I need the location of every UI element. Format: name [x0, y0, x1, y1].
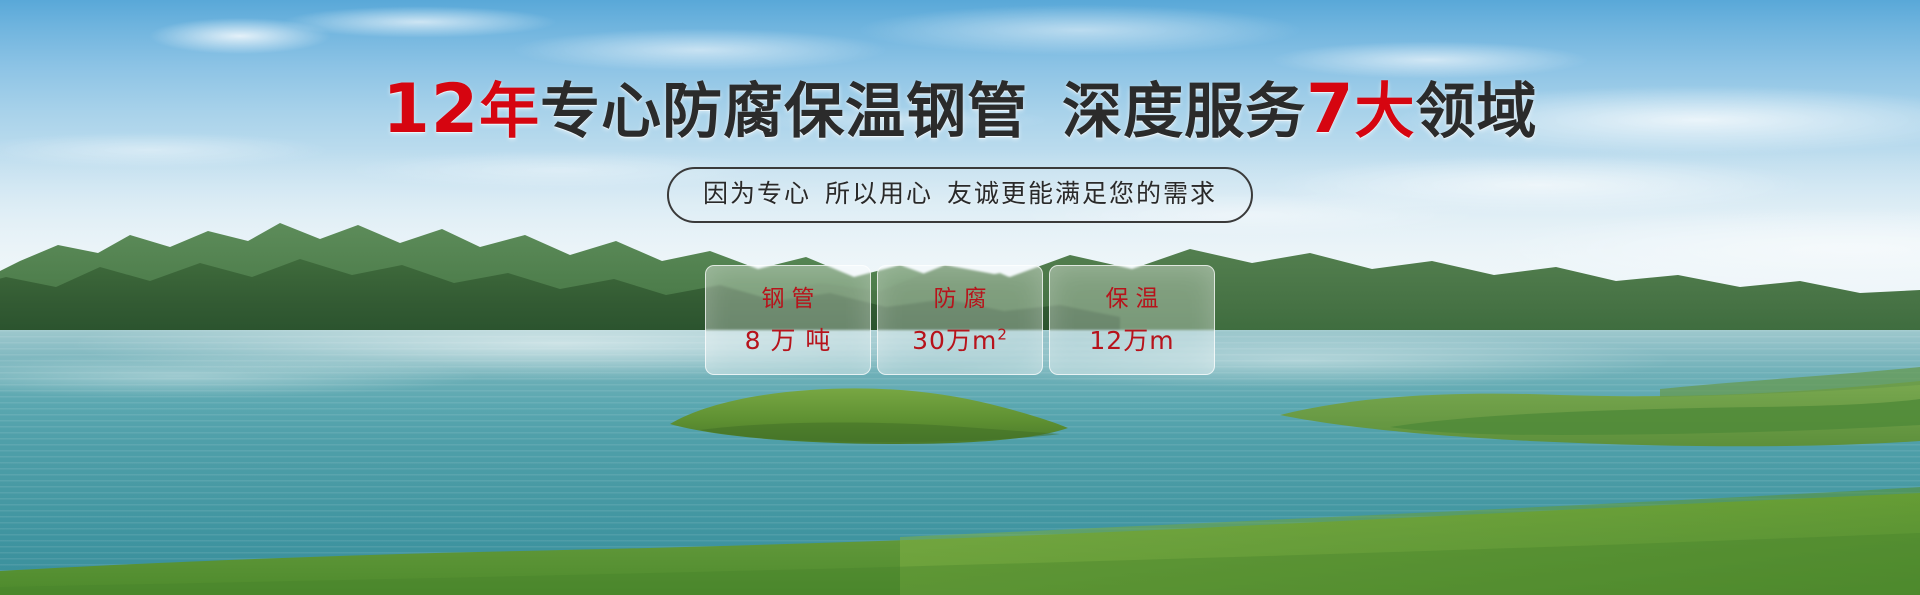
stat-card-group: 钢管 8 万 吨 防腐 30万m2 保温 12万m	[705, 265, 1215, 375]
stat-value-anticorrosion: 30万m2	[912, 326, 1008, 356]
headline-fields-unit: 大	[1354, 77, 1415, 147]
stat-label-insulation: 保温	[1099, 284, 1166, 314]
headline-fields-number: 7	[1306, 70, 1354, 149]
headline-main-text: 专心防腐保温钢管	[540, 77, 1028, 147]
headline-years-unit: 年	[479, 77, 540, 147]
subtitle-pill: 因为专心所以用心友诚更能满足您的需求	[667, 167, 1253, 223]
banner-content: 12年专心防腐保温钢管深度服务7大领域 因为专心所以用心友诚更能满足您的需求 钢…	[0, 0, 1920, 595]
headline-years-number: 12	[383, 70, 480, 149]
page-title: 12年专心防腐保温钢管深度服务7大领域	[0, 78, 1920, 144]
stat-label-anticorrosion: 防腐	[927, 284, 994, 314]
subtitle-part-3: 友诚更能满足您的需求	[947, 179, 1217, 208]
stat-card-steel-pipe[interactable]: 钢管 8 万 吨	[705, 265, 871, 375]
headline-service-text: 深度服务	[1062, 77, 1306, 147]
stat-value-anticorrosion-text: 30万m	[912, 326, 997, 355]
stat-label-steel-pipe: 钢管	[755, 284, 822, 314]
stat-value-insulation: 12万m	[1089, 326, 1174, 356]
stat-card-insulation[interactable]: 保温 12万m	[1049, 265, 1215, 375]
stat-value-anticorrosion-sup: 2	[997, 326, 1008, 344]
subtitle-part-1: 因为专心	[703, 179, 811, 208]
headline-fields-text: 领域	[1415, 77, 1537, 147]
subtitle-part-2: 所以用心	[825, 179, 933, 208]
stat-value-steel-pipe: 8 万 吨	[745, 326, 832, 356]
stat-card-anticorrosion[interactable]: 防腐 30万m2	[877, 265, 1043, 375]
hero-banner: 12年专心防腐保温钢管深度服务7大领域 因为专心所以用心友诚更能满足您的需求 钢…	[0, 0, 1920, 595]
